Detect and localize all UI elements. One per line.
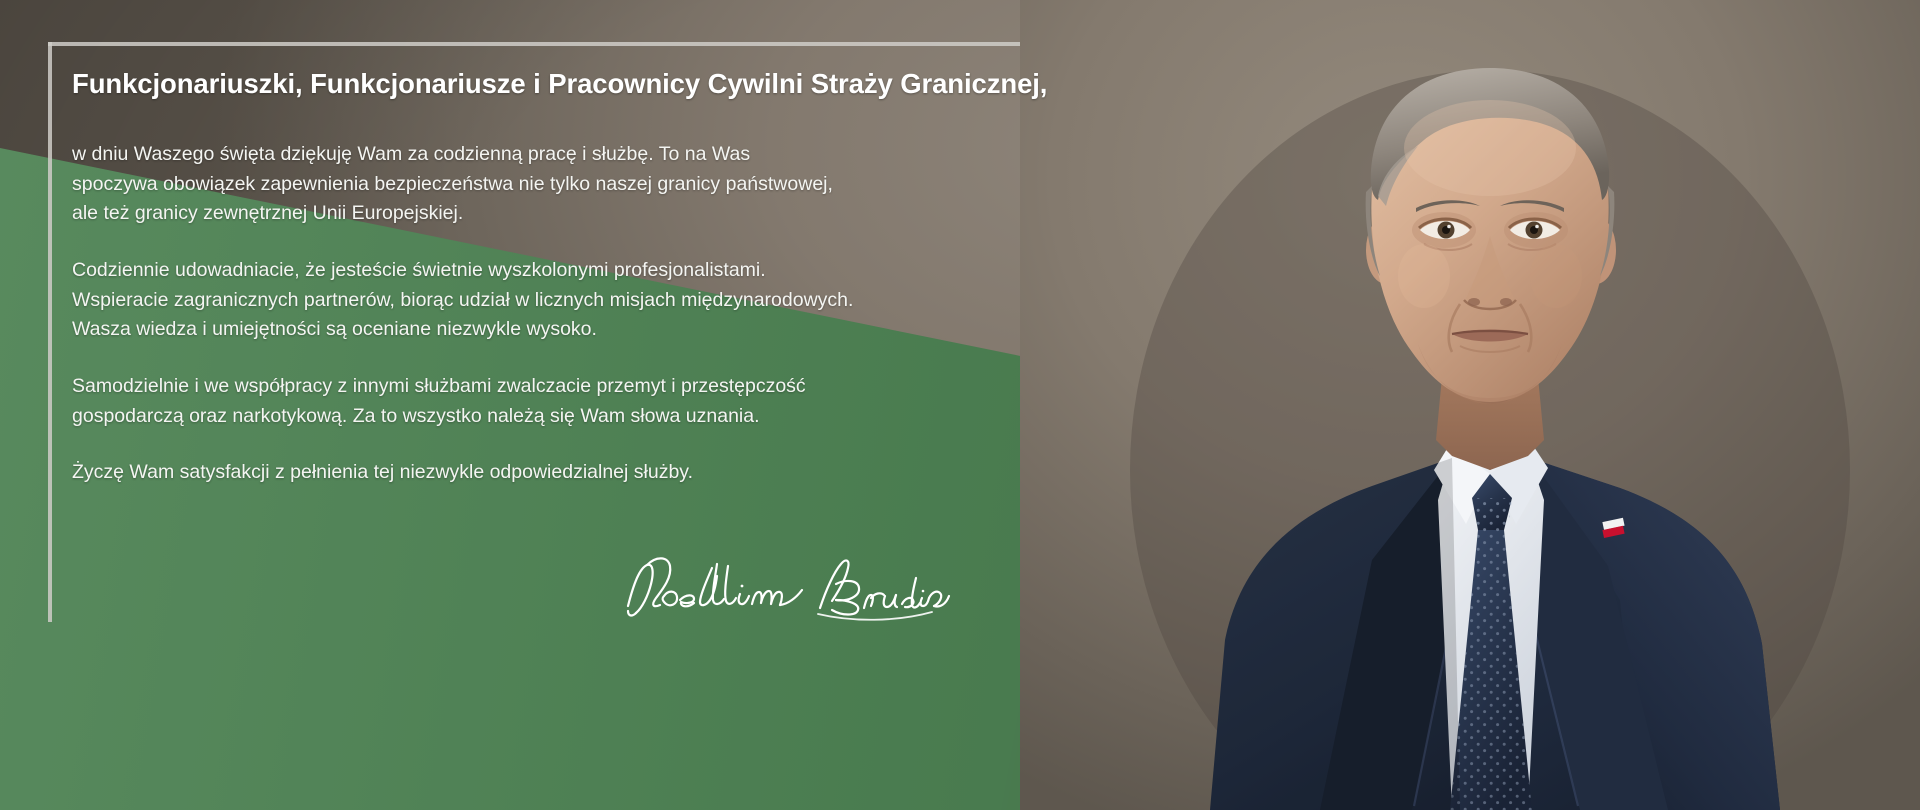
paragraph-line: Życzę Wam satysfakcji z pełnienia tej ni… <box>72 458 1072 488</box>
frame-rule-left <box>48 42 52 622</box>
message-body: w dniu Waszego święta dziękuję Wam za co… <box>72 140 1072 488</box>
message-column: Funkcjonariuszki, Funkcjonariusze i Prac… <box>72 66 1072 488</box>
page-title: Funkcjonariuszki, Funkcjonariusze i Prac… <box>72 66 1072 101</box>
paragraph-intro: w dniu Waszego święta dziękuję Wam za co… <box>72 140 1072 229</box>
signature: Joachim Brudziński <box>620 548 950 628</box>
paragraph-line: Wasza wiedza i umiejętności są oceniane … <box>72 315 1072 345</box>
paragraph-line: ale też granicy zewnętrznej Unii Europej… <box>72 199 1072 229</box>
paragraph-line: gospodarczą oraz narkotykową. Za to wszy… <box>72 402 1072 432</box>
frame-rule-top <box>48 42 1026 46</box>
paragraph-professionalism: Codziennie udowadniacie, że jesteście św… <box>72 256 1072 345</box>
poster-canvas: Funkcjonariuszki, Funkcjonariusze i Prac… <box>0 0 1920 810</box>
paragraph-line: Samodzielnie i we współpracy z innymi sł… <box>72 372 1072 402</box>
paragraph-cooperation: Samodzielnie i we współpracy z innymi sł… <box>72 372 1072 431</box>
paragraph-line: Wspieracie zagranicznych partnerów, bior… <box>72 286 1072 316</box>
paragraph-line: Codziennie udowadniacie, że jesteście św… <box>72 256 1072 286</box>
portrait-photo <box>1020 0 1920 810</box>
paragraph-closing: Życzę Wam satysfakcji z pełnienia tej ni… <box>72 458 1072 488</box>
paragraph-line: w dniu Waszego święta dziękuję Wam za co… <box>72 140 1072 170</box>
paragraph-line: spoczywa obowiązek zapewnienia bezpiecze… <box>72 170 1072 200</box>
